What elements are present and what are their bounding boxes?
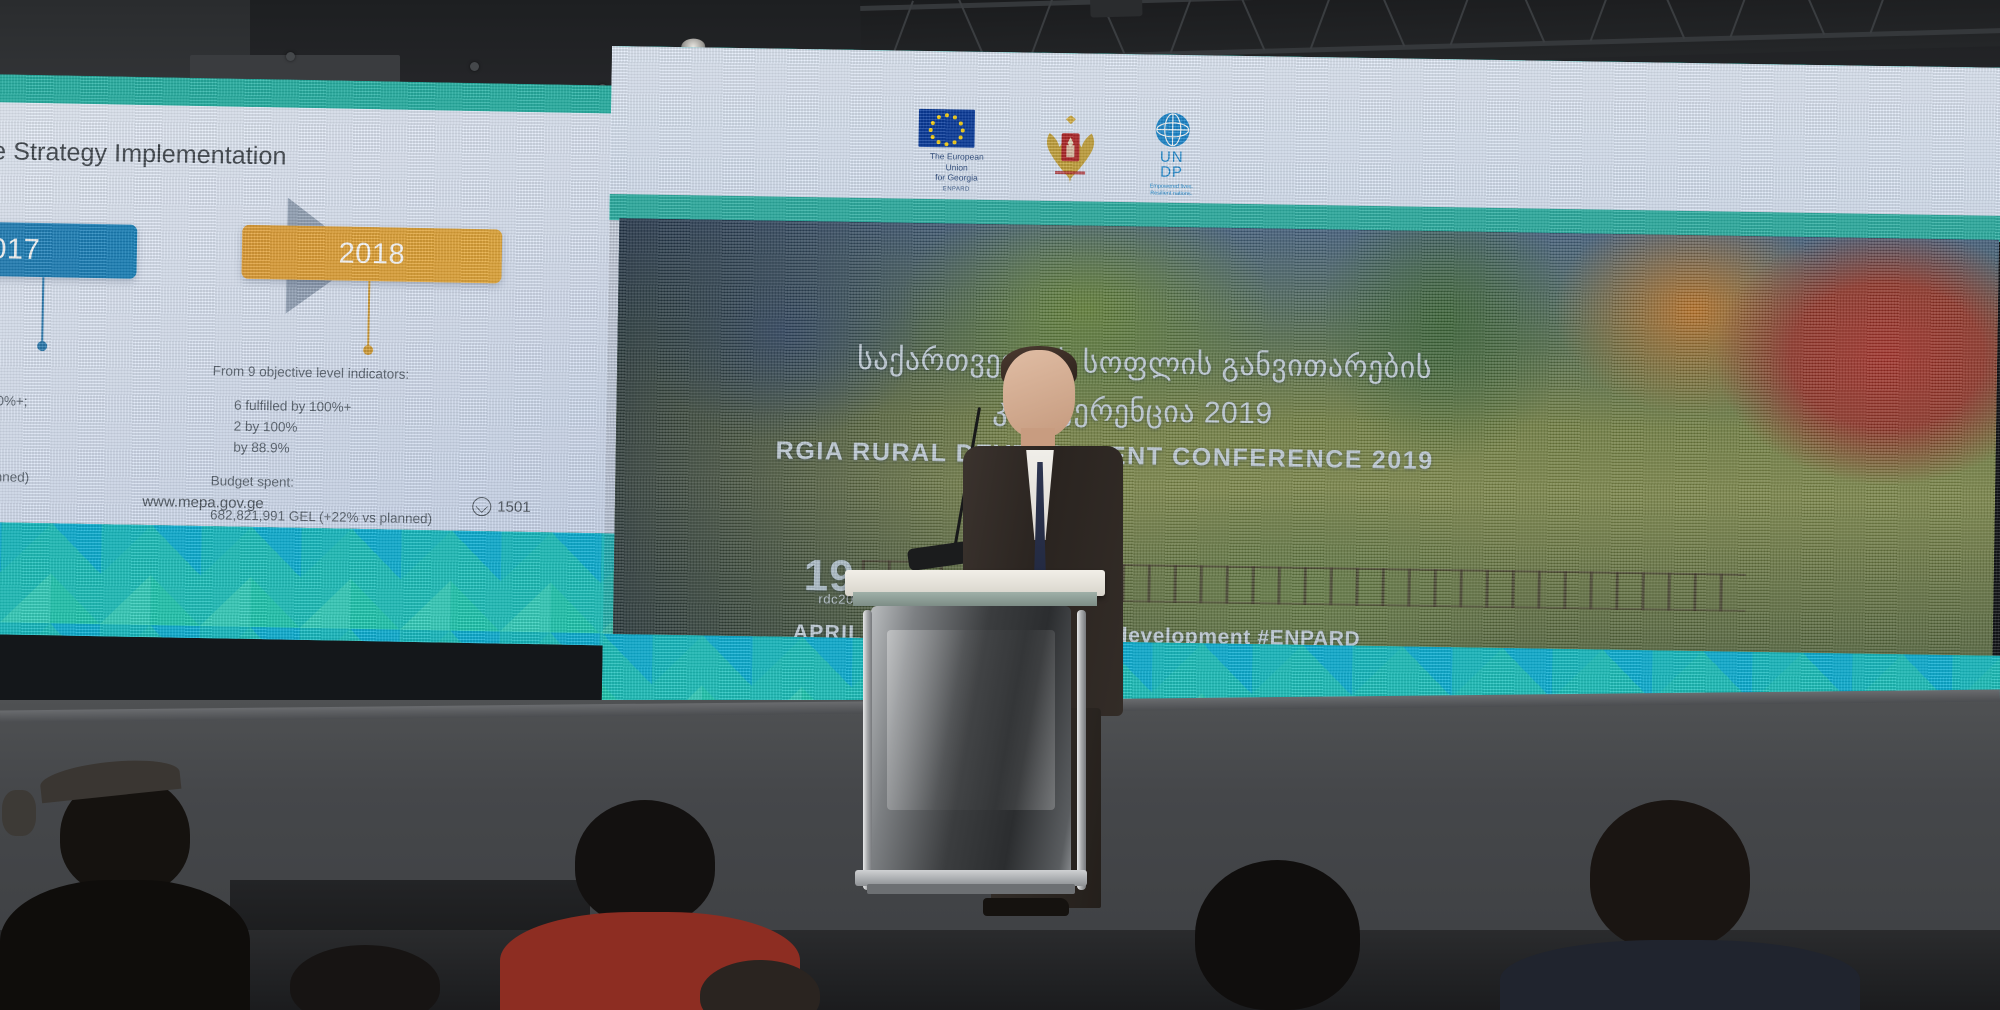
list-item: d by 100% or 100%+; — [0, 389, 176, 415]
undp-globe-icon — [1155, 113, 1190, 148]
strategy-results-slide: ults of the Strategy Implementation 2017… — [0, 102, 639, 534]
slide-title: ults of the Strategy Implementation — [0, 135, 287, 171]
podium-right-rail — [1077, 610, 1086, 890]
left-screen-mosaic-pattern — [0, 521, 632, 645]
slide-footer-phone: 1501 — [472, 497, 531, 517]
banner-header: The European Union for Georgia ENPARD — [610, 46, 2000, 218]
audience-head — [1590, 800, 1750, 950]
podium-top-edge — [853, 592, 1097, 606]
year-chip-2018: 2018 — [241, 225, 502, 284]
undp-logo: UN DP Empowered lives. Resilient nations… — [1145, 112, 1199, 193]
autumn-forest-photo: საქართველოს სოფლის განვითარების კონფერენ… — [613, 218, 1999, 660]
podium-glass-panel — [887, 630, 1055, 810]
conference-hall-photo: ults of the Strategy Implementation 2017… — [0, 0, 2000, 1010]
list-item: lled. — [0, 431, 176, 457]
undp-tagline: Empowered lives. Resilient nations. — [1145, 183, 1198, 198]
glass-podium — [845, 570, 1105, 920]
partner-logos: The European Union for Georgia ENPARD — [918, 109, 1199, 199]
audience-head — [1195, 860, 1360, 1010]
year-2017-connector — [41, 277, 44, 345]
eu-logo-caption: The European Union for Georgia ENPARD — [918, 151, 996, 195]
podium-left-rail — [863, 610, 872, 890]
left-presentation-screen: ults of the Strategy Implementation 2017… — [0, 74, 640, 646]
speaker-head — [1003, 350, 1075, 438]
eu-flag-icon — [918, 109, 975, 148]
audience-head — [575, 800, 715, 925]
left-column-bullets: r level indicators: d by 100% or 100%+; … — [0, 355, 177, 491]
audience-shoulders — [1500, 940, 1860, 1010]
european-union-for-georgia-logo: The European Union for Georgia ENPARD — [918, 109, 996, 195]
slide-footer-url: www.mepa.gov.ge — [142, 493, 264, 512]
list-item: d partially; — [0, 410, 176, 436]
phone-icon — [472, 497, 491, 516]
audience-shoulders — [0, 880, 250, 1010]
podium-foot — [867, 884, 1075, 894]
audience-hand — [2, 790, 36, 836]
right-presentation-screen: The European Union for Georgia ENPARD — [601, 46, 2000, 788]
phone-number: 1501 — [497, 498, 531, 516]
left-column-heading: r level indicators: — [0, 355, 177, 381]
undp-wordmark: UN DP — [1145, 149, 1198, 180]
georgia-coat-of-arms-logo — [1039, 111, 1102, 190]
year-2018-connector — [367, 281, 370, 349]
year-chip-2017: 2017 — [0, 220, 137, 279]
